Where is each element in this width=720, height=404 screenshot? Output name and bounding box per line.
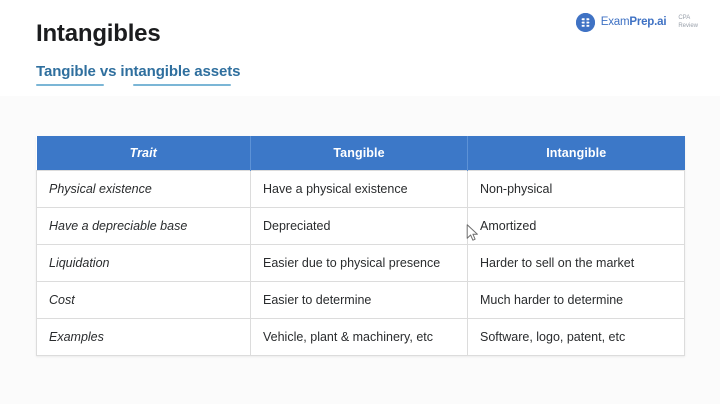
- tangible-vs-intangible-table: Trait Tangible Intangible Physical exist…: [36, 136, 685, 356]
- cell-intangible: Software, logo, patent, etc: [468, 319, 685, 356]
- brand-name-light: Exam: [601, 16, 630, 28]
- cell-trait: Have a depreciable base: [37, 208, 251, 245]
- brand-logo: ExamPrep.ai CPA Review: [576, 13, 698, 32]
- section-subtitle: Tangible vs intangible assets: [36, 62, 240, 82]
- brand-name-heavy: Prep.ai: [629, 16, 666, 28]
- page-title: Intangibles: [36, 20, 160, 48]
- subtitle-underline-right: [133, 84, 231, 86]
- table-header-row: Trait Tangible Intangible: [37, 136, 685, 171]
- table-row: Physical existence Have a physical exist…: [37, 171, 685, 208]
- brand-wordmark: ExamPrep.ai: [601, 16, 667, 29]
- table-row: Liquidation Easier due to physical prese…: [37, 245, 685, 282]
- subtitle-underline-left: [36, 84, 104, 86]
- section-subtitle-group: Tangible vs intangible assets: [36, 62, 240, 88]
- cell-intangible: Harder to sell on the market: [468, 245, 685, 282]
- brand-tagline-line2: Review: [678, 23, 698, 29]
- cell-trait: Cost: [37, 282, 251, 319]
- cell-tangible: Have a physical existence: [251, 171, 468, 208]
- brand-tagline-line1: CPA: [678, 15, 690, 21]
- cell-intangible: Amortized: [468, 208, 685, 245]
- table-row: Have a depreciable base Depreciated Amor…: [37, 208, 685, 245]
- column-header-trait: Trait: [37, 136, 251, 171]
- brand-tagline: CPA Review: [678, 15, 698, 30]
- table-row: Cost Easier to determine Much harder to …: [37, 282, 685, 319]
- examprep-circle-logo-icon: [576, 13, 595, 32]
- cell-tangible: Easier due to physical presence: [251, 245, 468, 282]
- cell-intangible: Non-physical: [468, 171, 685, 208]
- column-header-tangible: Tangible: [251, 136, 468, 171]
- cell-trait: Examples: [37, 319, 251, 356]
- cell-trait: Liquidation: [37, 245, 251, 282]
- column-header-intangible: Intangible: [468, 136, 685, 171]
- cell-trait: Physical existence: [37, 171, 251, 208]
- cell-tangible: Vehicle, plant & machinery, etc: [251, 319, 468, 356]
- slide-canvas: Intangibles Tangible vs intangible asset…: [0, 0, 720, 404]
- cell-tangible: Easier to determine: [251, 282, 468, 319]
- table-row: Examples Vehicle, plant & machinery, etc…: [37, 319, 685, 356]
- cell-tangible: Depreciated: [251, 208, 468, 245]
- cell-intangible: Much harder to determine: [468, 282, 685, 319]
